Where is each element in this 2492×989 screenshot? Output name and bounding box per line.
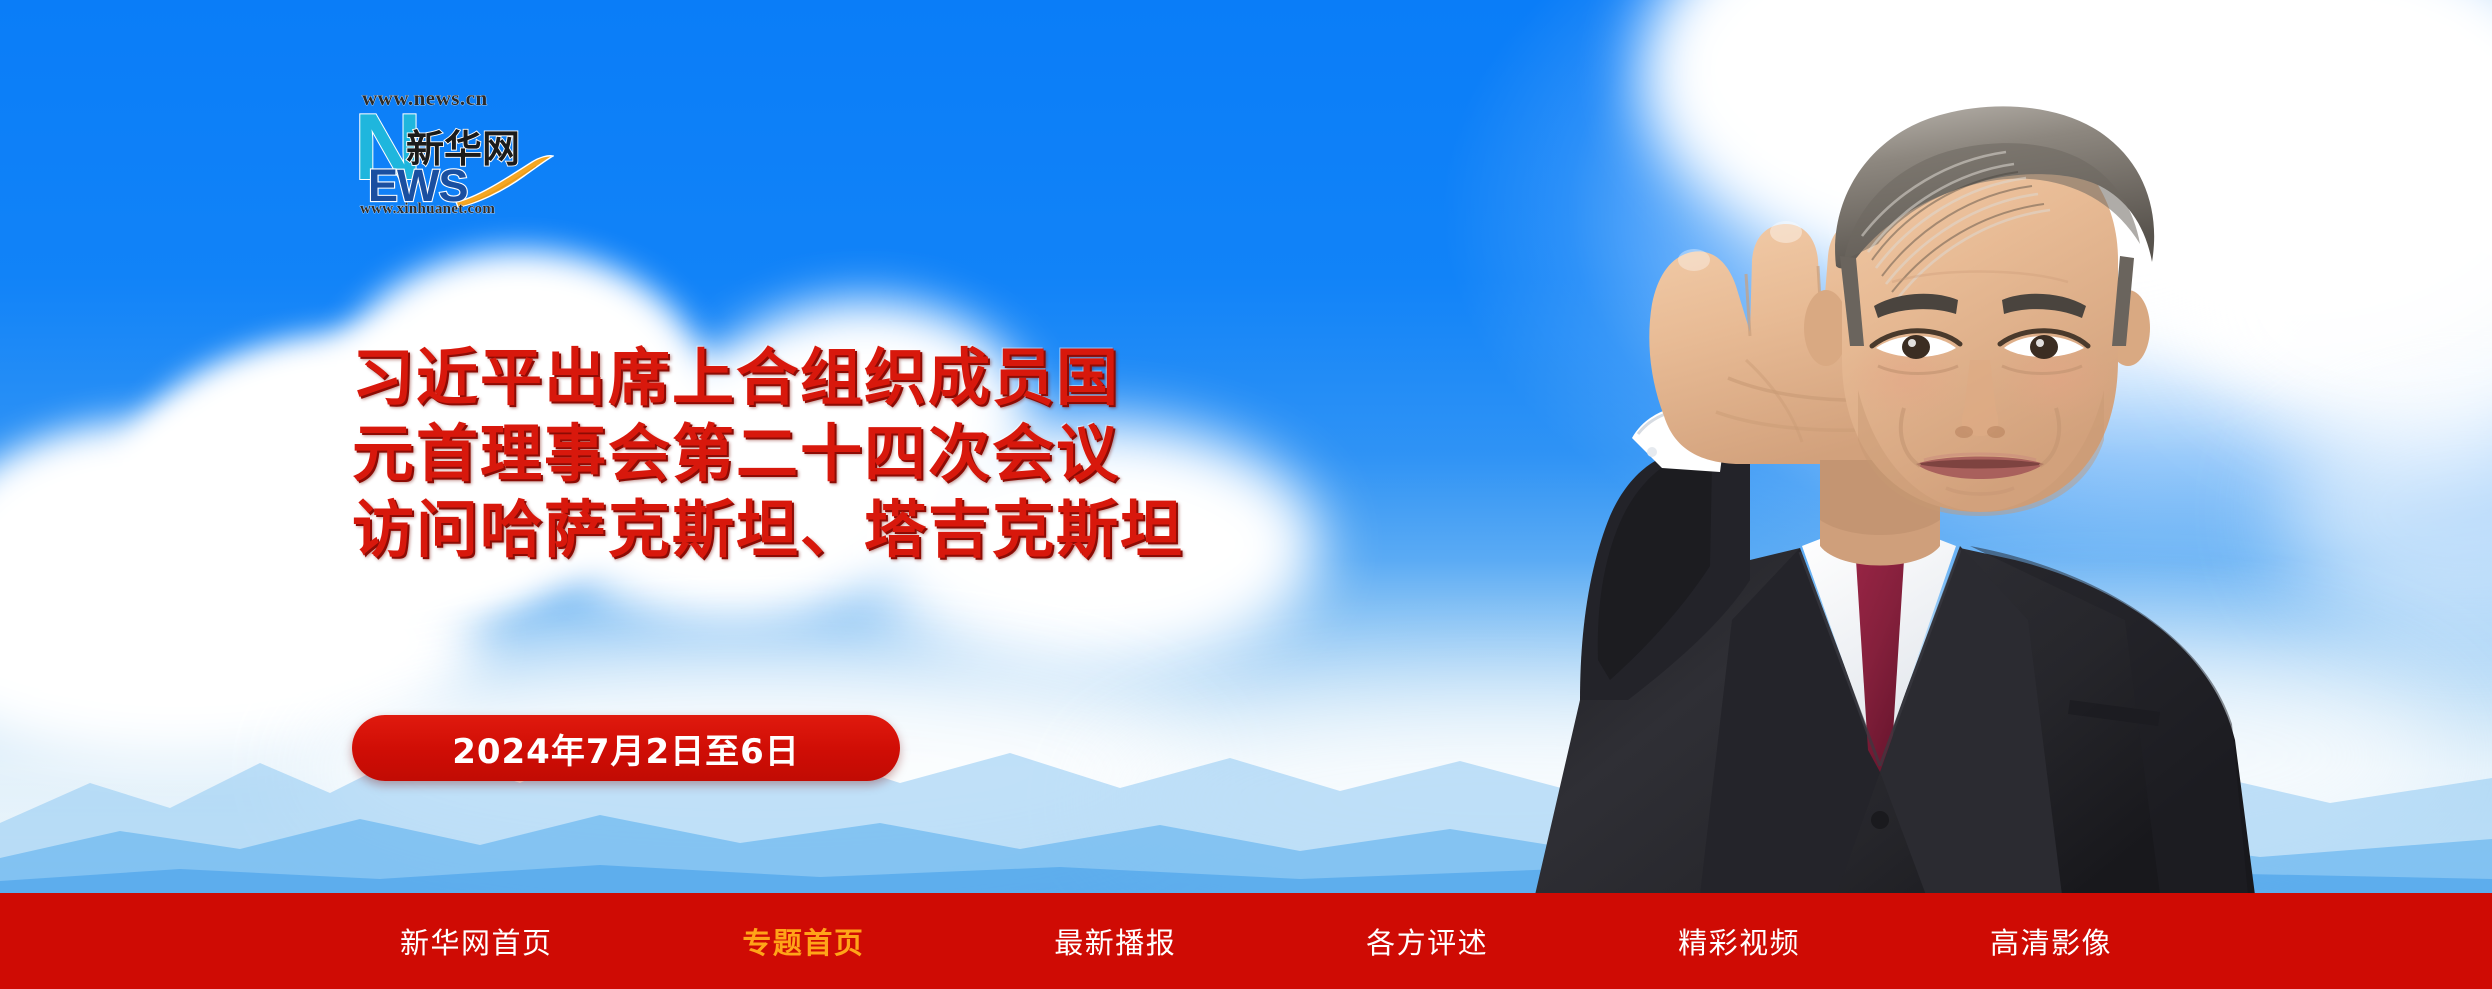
title-line-3: 访问哈萨克斯坦、塔吉克斯坦 bbox=[352, 492, 1184, 568]
bottom-navigation-bar: 新华网首页 专题首页 最新播报 各方评述 精彩视频 高清影像 bbox=[0, 893, 2492, 989]
title-line-1: 习近平出席上合组织成员国 bbox=[352, 340, 1184, 416]
nav-items-container: 新华网首页 专题首页 最新播报 各方评述 精彩视频 高清影像 bbox=[0, 920, 2492, 962]
date-badge-label: 2024年7月2日至6日 bbox=[452, 724, 800, 773]
xinhua-special-topic-banner: www.news.cn N 新华网 EWS www.xinhuanet.com … bbox=[0, 0, 2492, 989]
nav-item-videos[interactable]: 精彩视频 bbox=[1678, 920, 1800, 962]
nav-item-latest-news[interactable]: 最新播报 bbox=[1054, 920, 1176, 962]
logo-bottom-url: www.xinhuanet.com bbox=[360, 201, 495, 218]
date-badge: 2024年7月2日至6日 bbox=[352, 715, 900, 781]
title-line-2: 元首理事会第二十四次会议 bbox=[352, 416, 1184, 492]
page-title: 习近平出席上合组织成员国 元首理事会第二十四次会议 访问哈萨克斯坦、塔吉克斯坦 bbox=[352, 340, 1184, 568]
nav-item-home[interactable]: 新华网首页 bbox=[400, 920, 553, 962]
nav-item-hd-images[interactable]: 高清影像 bbox=[1990, 920, 2112, 962]
logo-swoosh-icon bbox=[454, 154, 554, 208]
nav-item-topic-home[interactable]: 专题首页 bbox=[742, 920, 864, 962]
nav-item-commentary[interactable]: 各方评述 bbox=[1366, 920, 1488, 962]
xinhua-logo[interactable]: www.news.cn N 新华网 EWS www.xinhuanet.com bbox=[344, 86, 544, 216]
portrait-photo bbox=[1280, 60, 2290, 895]
